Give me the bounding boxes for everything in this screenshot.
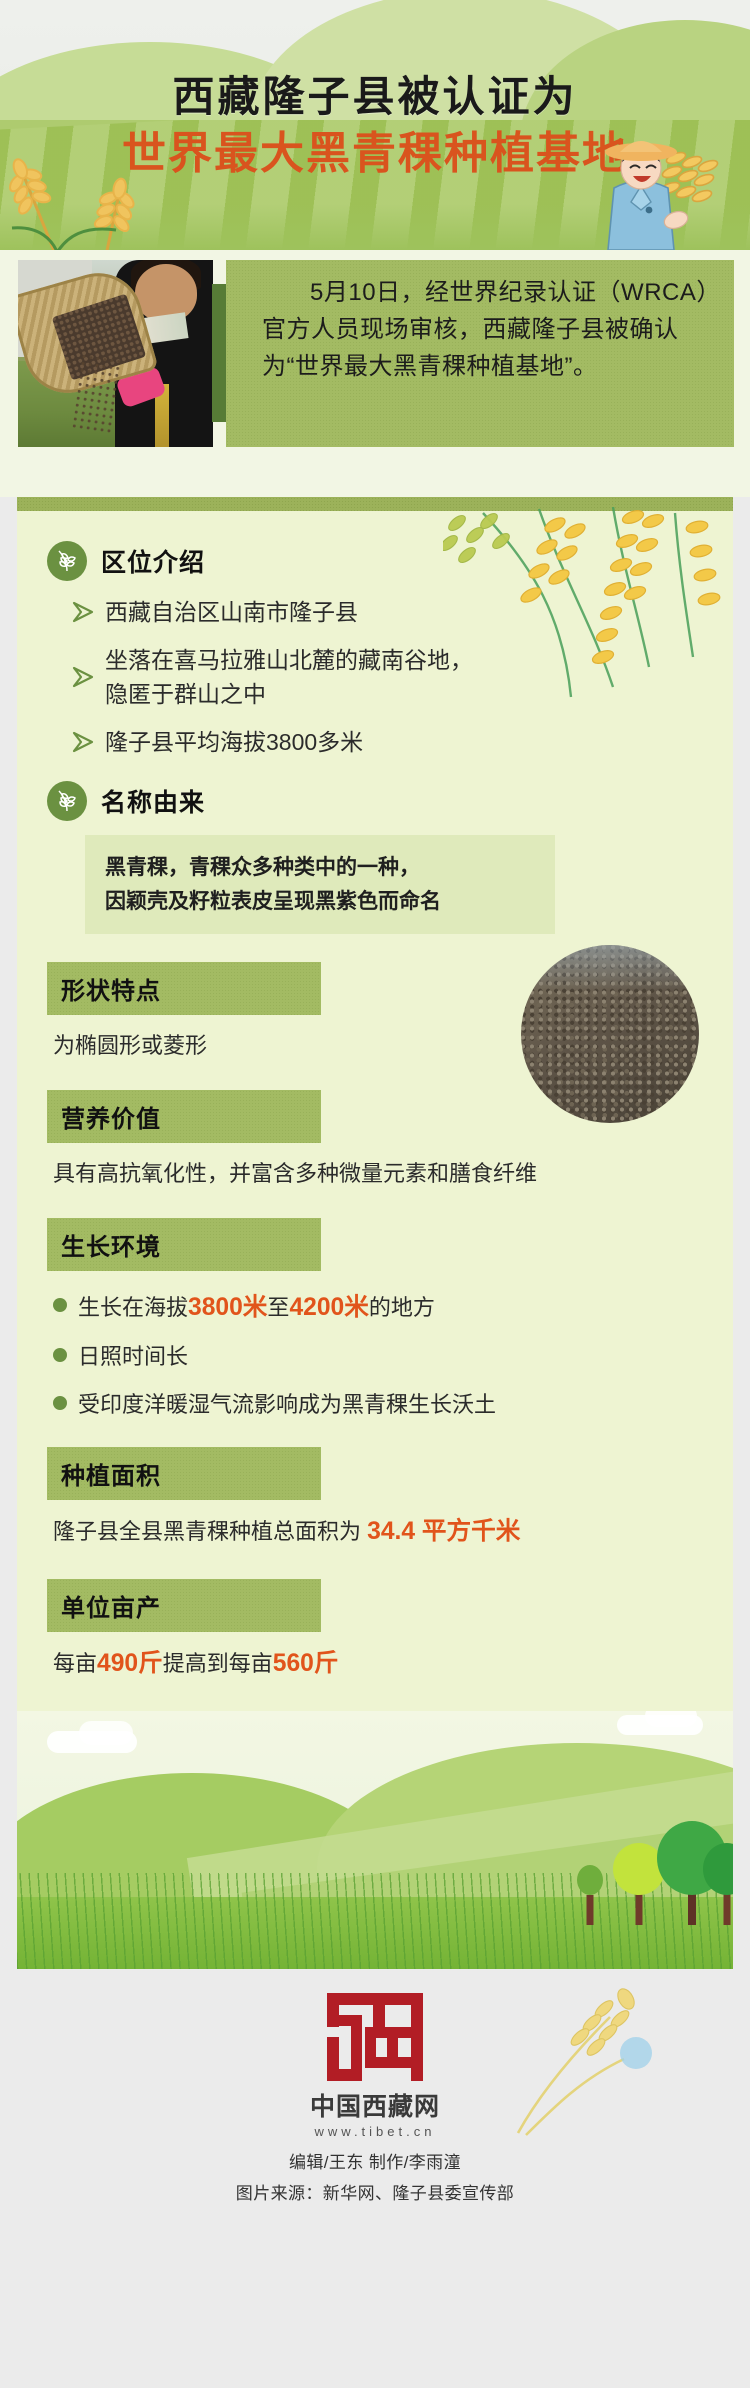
footer: 中国西藏网 www.tibet.cn 编辑/王东 制作/李雨潼 图片来源：新华网…	[0, 1969, 750, 2204]
bullet-dot-icon	[53, 1298, 67, 1312]
tibet-logo-icon	[321, 1991, 429, 2083]
bullet-dot-icon	[53, 1396, 67, 1410]
farmer-illustration	[592, 128, 732, 250]
label-title: 种植面积	[61, 1463, 161, 1490]
water-drop-icon	[620, 2037, 652, 2069]
cloud-icon	[79, 1721, 133, 1745]
bullet-line: 西藏自治区山南市隆子县	[105, 599, 358, 625]
dot-text: 受印度洋暖湿气流影响成为黑青稞生长沃土	[78, 1387, 496, 1419]
label-body-yield: 每亩490斤提高到每亩560斤	[53, 1646, 703, 1683]
dot-text: 生长在海拔3800米至4200米的地方	[78, 1287, 435, 1323]
label-title: 营养价值	[61, 1106, 161, 1133]
label-title: 形状特点	[61, 978, 161, 1005]
wheat-icon	[47, 781, 87, 821]
label-bar-environment: 生长环境	[47, 1218, 321, 1271]
label-title: 单位亩产	[61, 1595, 161, 1622]
source-line: 图片来源：新华网、隆子县委宣传部	[0, 2179, 750, 2204]
intro-text: 5月10日，经世界纪录认证（WRCA）官方人员现场审核，西藏隆子县被确认为“世界…	[262, 274, 718, 386]
label-body-area: 隆子县全县黑青稞种植总面积为 34.4 平方千米	[53, 1514, 703, 1551]
tree-icon	[703, 1825, 733, 1925]
section-header-location: 区位介绍	[47, 541, 703, 581]
section-header-naming: 名称由来	[47, 781, 703, 821]
bullet-dot-icon	[53, 1348, 67, 1362]
label-body-nutrition: 具有高抗氧化性，并富含多种微量元素和膳食纤维	[53, 1157, 703, 1190]
label-bar-nutrition: 营养价值	[47, 1090, 321, 1143]
label-body-shape: 为椭圆形或菱形	[53, 1029, 703, 1062]
label-bar-shape: 形状特点	[47, 962, 321, 1015]
bullet-item: 西藏自治区山南市隆子县	[71, 595, 703, 630]
chevron-right-icon	[71, 601, 95, 623]
bullet-item: 坐落在喜马拉雅山北麓的藏南谷地， 隐匿于群山之中	[71, 643, 703, 712]
title-line-1: 西藏隆子县被认证为	[0, 74, 750, 124]
chevron-right-icon	[71, 666, 95, 688]
bullet-line: 隐匿于群山之中	[105, 677, 473, 712]
dot-text: 日照时间长	[78, 1339, 188, 1371]
main-content-panel: 区位介绍 西藏自治区山南市隆子县 坐落在喜马拉雅山北麓的藏南谷地， 隐匿于群山之…	[17, 497, 733, 1969]
cloud-icon	[645, 1711, 697, 1727]
section-title: 名称由来	[101, 783, 205, 819]
dot-item: 生长在海拔3800米至4200米的地方	[53, 1287, 703, 1323]
credit-line: 编辑/王东 制作/李雨潼	[0, 2148, 750, 2173]
header-banner: 西藏隆子县被认证为 世界最大黑青稞种植基地	[0, 0, 750, 250]
naming-line-2: 因颖壳及籽粒表皮呈现黑紫色而命名	[105, 885, 535, 919]
dot-item: 日照时间长	[53, 1339, 703, 1371]
label-bar-yield: 单位亩产	[47, 1579, 321, 1632]
bullet-item: 隆子县平均海拔3800多米	[71, 725, 703, 760]
naming-textbox: 黑青稞，青稞众多种类中的一种， 因颖壳及籽粒表皮呈现黑紫色而命名	[85, 835, 555, 934]
chevron-right-icon	[71, 731, 95, 753]
dot-item: 受印度洋暖湿气流影响成为黑青稞生长沃土	[53, 1387, 703, 1419]
bullet-line: 坐落在喜马拉雅山北麓的藏南谷地，	[105, 643, 473, 678]
label-title: 生长环境	[61, 1234, 161, 1261]
label-bar-area: 种植面积	[47, 1447, 321, 1500]
tree-icon	[577, 1855, 603, 1925]
section-title: 区位介绍	[101, 543, 205, 579]
landscape-illustration	[17, 1711, 733, 1969]
intro-section: 5月10日，经世界纪录认证（WRCA）官方人员现场审核，西藏隆子县被确认为“世界…	[0, 250, 750, 497]
wheat-icon	[47, 541, 87, 581]
wheat-icon	[504, 1987, 654, 2137]
bullet-line: 隆子县平均海拔3800多米	[105, 729, 363, 755]
naming-line-1: 黑青稞，青稞众多种类中的一种，	[105, 851, 535, 885]
intro-photo	[18, 260, 213, 447]
